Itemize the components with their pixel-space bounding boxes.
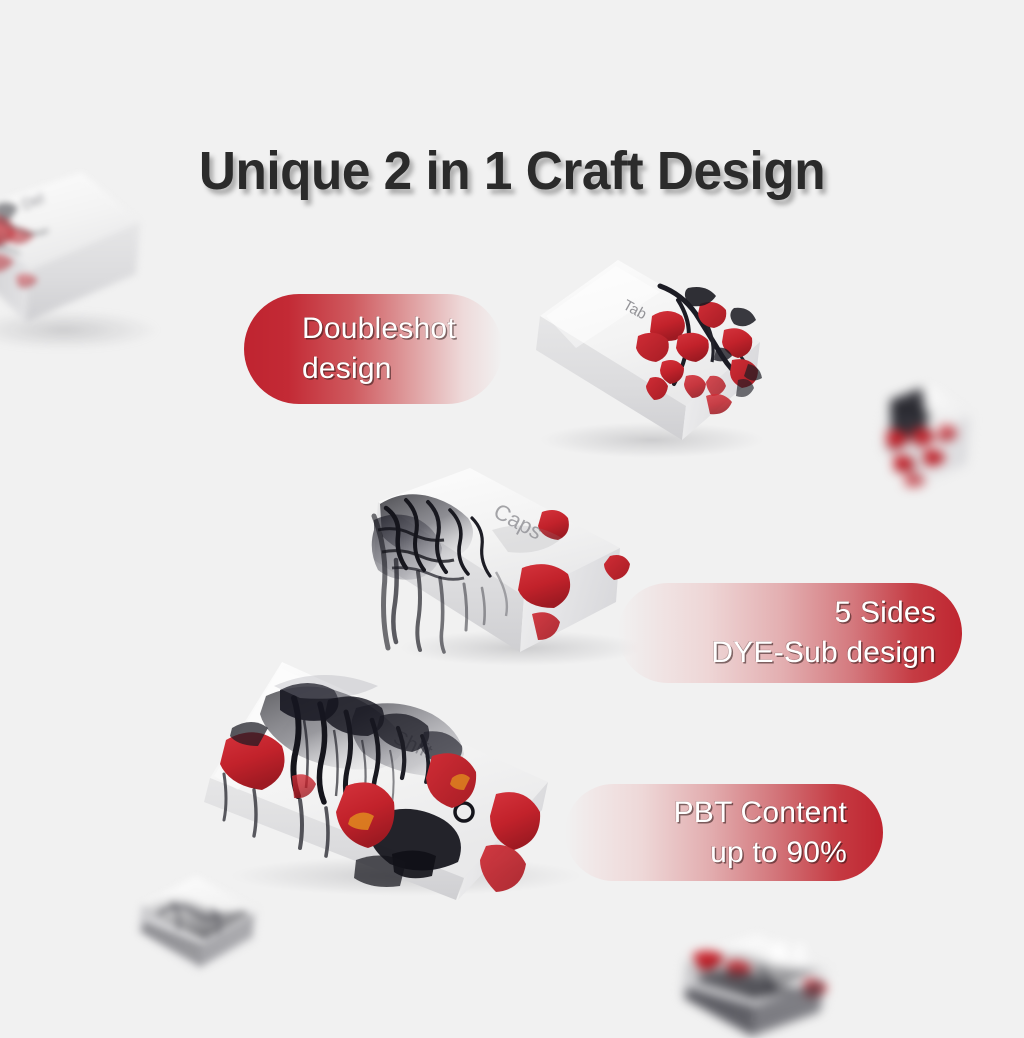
feature-label-dye-sub: 5 Sides DYE-Sub design: [618, 583, 962, 683]
feature-label-dye-sub-line-2: DYE-Sub design: [711, 633, 936, 673]
feature-label-doubleshot: Doubleshot design: [244, 294, 502, 404]
keycap-tab: Tab: [510, 244, 790, 464]
feature-label-doubleshot-line-2: design: [302, 349, 392, 389]
feature-label-pbt-content: PBT Content up to 90%: [565, 784, 883, 881]
feature-label-doubleshot-line-1: Doubleshot: [302, 309, 456, 349]
feature-label-pbt-content-line-1: PBT Content: [674, 793, 847, 833]
feature-label-pbt-content-line-2: up to 90%: [710, 833, 847, 873]
keycap-right-small: [866, 372, 996, 502]
keycap-bottom-right: [662, 928, 852, 1038]
feature-label-dye-sub-line-1: 5 Sides: [835, 593, 936, 633]
product-infographic-canvas: Unique 2 in 1 Craft Design Del: [0, 0, 1024, 1024]
keycap-top-left-edge: Del: [0, 158, 184, 358]
keycap-bottom-left-small: [124, 862, 284, 982]
